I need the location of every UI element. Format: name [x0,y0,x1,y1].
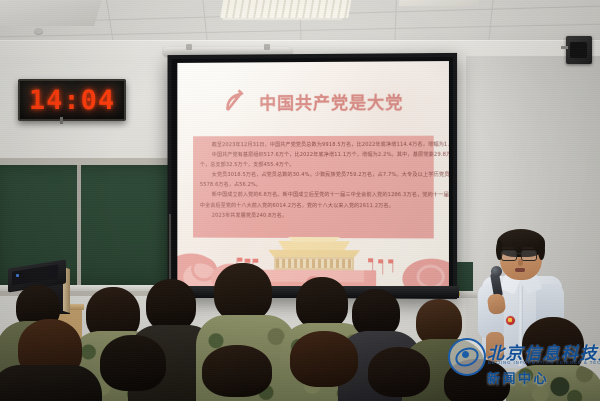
clock-time: 14:04 [29,87,115,114]
watermark: 北京信息科技大学 BEIJING INFORMATION SCIENCE & T… [447,336,599,398]
slide-body-text: 截至2023年12月31日，中国共产党党员总数为9918.5万名，比2022年底… [193,136,434,239]
roller-bracket [264,44,270,50]
clock-mount [60,117,63,124]
slide-body-line: 女党员3018.5万名，占党员总数的30.4%。少数民族党员759.2万名，占7… [200,171,427,180]
party-emblem-lapel-pin [506,316,515,325]
presenter-hair [538,240,545,260]
slide-body-line: 中全会后至党的十八大前入党的6014.2万名，党的十八大以来入党的2611.2万… [200,201,427,210]
slide-body-line: 新中国成立前入党的6.8万名。新中国成立后至党的十一届三中全会前入党的1286.… [200,191,427,200]
cpc-hammer-sickle-emblem [222,86,252,116]
presenter-hand [487,293,507,315]
presentation-slide: 中国共产党是大党 截至2023年12月31日，中国共产党党员总数为9918.5万… [177,61,449,291]
power-led-icon [16,274,19,277]
eyeglasses-bridge [515,253,521,254]
ceiling-light-panel [399,0,482,6]
audience-head [368,347,430,397]
audience-head [296,277,348,329]
slide-body-line: 截至2023年12月31日，中国共产党党员总数为9918.5万名，比2022年底… [200,141,427,150]
projection-screen: 中国共产党是大党 截至2023年12月31日，中国共产党党员总数为9918.5万… [168,53,458,299]
news-center-label: 新闻中心 [487,368,549,387]
eyebrow [502,247,514,249]
slide-body-line: 5578.6万名，占56.2%。 [200,181,427,190]
presenter-mouth [515,268,525,272]
wall-digital-clock: 14:04 [18,79,126,121]
photo-scene: 14:04 中国共产党是大党 [0,0,600,401]
eyebrow [522,247,534,249]
audience-head [290,331,358,387]
smoke-detector-icon [34,28,43,34]
slide-body-line: 2023年共发展党员240.8万名。 [200,211,427,220]
audience-head [100,335,166,391]
ceiling-light-panel [0,0,102,26]
roller-bracket [186,44,192,50]
audience-head [214,263,272,321]
presenter-nose [518,259,523,266]
university-crest-icon [448,338,486,376]
audience-head [202,345,272,397]
university-name-en: BEIJING INFORMATION SCIENCE & TECHNOLOGY… [488,360,600,365]
microphone-stand [169,214,171,286]
audience-head [352,289,400,337]
slide-title: 中国共产党是大党 [259,88,403,114]
loudspeaker-icon [566,36,592,64]
eyeglasses-icon [501,250,517,261]
blackboard-divider [77,165,81,287]
slide-body-line: 中国共产党有基层组织517.6万个，比2022年底净增11.1万个，增幅为2.2… [200,151,427,160]
slide-body-line: 个，总支部32.5万个，支部455.4万个。 [200,161,427,170]
loudspeaker-bracket [561,46,568,49]
slide-title-row: 中国共产党是大党 [177,85,449,116]
audience-head [146,279,196,331]
audience-shoulders [0,365,102,401]
eyeglasses-icon [521,250,537,261]
ceiling-light-panel [220,0,352,18]
